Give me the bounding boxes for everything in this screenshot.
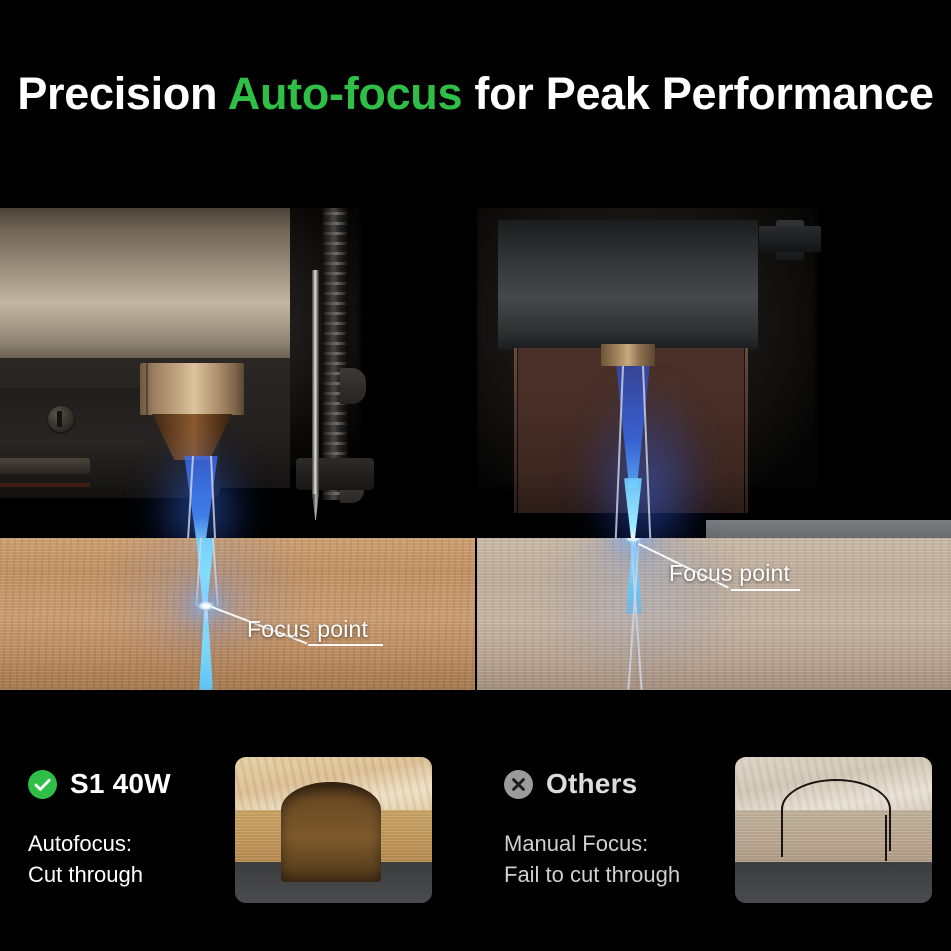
lead-screw-thread <box>322 272 348 275</box>
others-thumb-score-left-edge <box>781 815 783 857</box>
lead-screw-thread <box>322 432 348 435</box>
probe-carriage <box>296 458 374 490</box>
lead-screw-thread <box>322 362 348 365</box>
lead-screw-thread <box>322 442 348 445</box>
left-wood-slab <box>0 538 476 690</box>
left-callout-label: Focus point <box>247 616 368 643</box>
others-thumb-table-shadow <box>735 862 932 903</box>
autofocus-probe-tip <box>312 494 319 520</box>
lead-screw-thread <box>322 352 348 355</box>
others-thumb-score-right-edge <box>885 815 887 861</box>
lead-screw-thread <box>322 232 348 235</box>
lead-screw-thread <box>322 222 348 225</box>
lead-screw-thread <box>322 252 348 255</box>
s1-description: Autofocus: Cut through <box>28 828 143 890</box>
headline-part-1: Precision <box>17 68 227 119</box>
headline-part-2: for Peak Performance <box>462 68 933 119</box>
lead-screw-thread <box>322 332 348 335</box>
lead-screw-thread <box>322 452 348 455</box>
right-module-top-housing <box>498 220 758 350</box>
left-callout-underline <box>308 644 383 646</box>
s1-badge-row: S1 40W <box>28 768 171 800</box>
others-title: Others <box>546 768 637 800</box>
right-module-mount-arm <box>759 226 821 252</box>
page-title: Precision Auto-focus for Peak Performanc… <box>0 66 951 121</box>
lead-screw-thread <box>322 322 348 325</box>
others-description: Manual Focus: Fail to cut through <box>504 828 680 890</box>
comparison-column-others: Others Manual Focus: Fail to cut through <box>476 690 951 951</box>
x-circle-icon <box>504 770 533 799</box>
lead-screw-thread <box>322 412 348 415</box>
check-circle-icon <box>28 770 57 799</box>
product-feature-page: Precision Auto-focus for Peak Performanc… <box>0 0 951 951</box>
lead-screw-thread <box>322 262 348 265</box>
others-badge-row: Others <box>504 768 637 800</box>
s1-title: S1 40W <box>70 768 171 800</box>
comparison-column-s1: S1 40W Autofocus: Cut through <box>0 690 476 951</box>
laser-gantry-body <box>0 208 290 368</box>
headline-accent: Auto-focus <box>228 68 462 119</box>
lead-screw-thread <box>322 292 348 295</box>
s1-result-thumbnail[interactable] <box>235 757 432 903</box>
s1-thumb-cut-through-hole <box>281 782 381 882</box>
hero-comparison-image: Focus point <box>0 208 951 690</box>
right-callout-label: Focus point <box>669 560 790 587</box>
hero-center-divider <box>475 208 477 690</box>
lead-screw-thread <box>322 312 348 315</box>
comparison-section: S1 40W Autofocus: Cut through Others <box>0 690 951 951</box>
lead-screw-thread <box>322 302 348 305</box>
right-module-lens-barrel <box>601 344 655 366</box>
lead-screw-thread <box>322 282 348 285</box>
base-accent-strip <box>0 483 90 487</box>
lead-screw-thread <box>322 342 348 345</box>
lead-screw-thread <box>322 212 348 215</box>
laser-nozzle-barrel <box>140 363 244 415</box>
autofocus-probe-rod <box>312 270 319 498</box>
right-callout-underline <box>731 589 800 591</box>
others-result-thumbnail[interactable] <box>735 757 932 903</box>
base-screw-icon <box>48 406 74 432</box>
hero-right-panel: Focus point <box>476 208 951 690</box>
lead-screw-knob-upper <box>340 368 366 404</box>
right-module-body <box>518 348 744 513</box>
others-thumb-score-arc <box>781 779 891 851</box>
hero-left-panel: Focus point <box>0 208 476 690</box>
lead-screw-thread <box>322 242 348 245</box>
base-rail <box>0 458 90 474</box>
lead-screw-thread <box>322 422 348 425</box>
